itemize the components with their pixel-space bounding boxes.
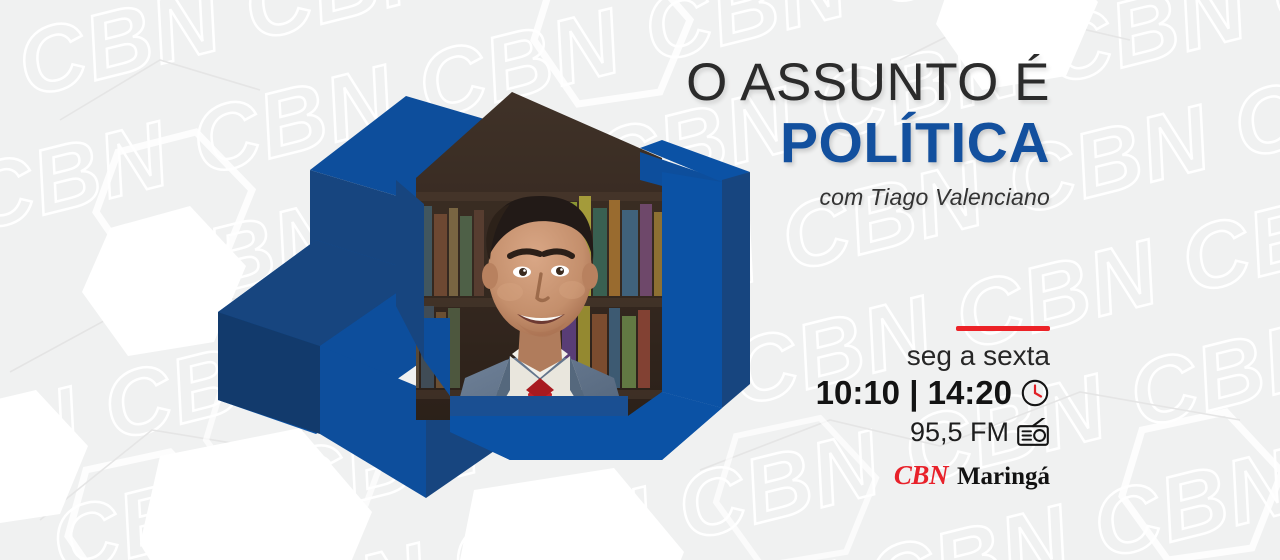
cbn-maringa-logo: CBN Maringá xyxy=(760,460,1050,491)
title-line-1: O ASSUNTO É xyxy=(620,56,1050,109)
title-subtitle: com Tiago Valenciano xyxy=(620,184,1050,211)
schedule-times: 10:10 | 14:20 xyxy=(816,374,1012,412)
schedule-days: seg a sexta xyxy=(760,341,1050,370)
show-title-block: O ASSUNTO É POLÍTICA com Tiago Valencian… xyxy=(620,56,1050,211)
accent-divider xyxy=(956,326,1050,331)
radio-show-banner: CBN CBN CBN CBN CBN CBN CBN CBN CBN CBN … xyxy=(0,0,1280,560)
clock-icon xyxy=(1020,378,1050,408)
schedule-frequency: 95,5 FM xyxy=(910,417,1009,448)
title-line-2: POLÍTICA xyxy=(620,112,1050,176)
schedule-block: seg a sexta 10:10 | 14:20 95,5 FM CBN xyxy=(760,326,1050,491)
schedule-frequency-row: 95,5 FM xyxy=(760,417,1050,448)
cbn-wordmark: CBN xyxy=(894,460,948,491)
schedule-times-row: 10:10 | 14:20 xyxy=(760,374,1050,412)
radio-icon xyxy=(1016,418,1050,448)
cbn-city-name: Maringá xyxy=(957,463,1050,491)
